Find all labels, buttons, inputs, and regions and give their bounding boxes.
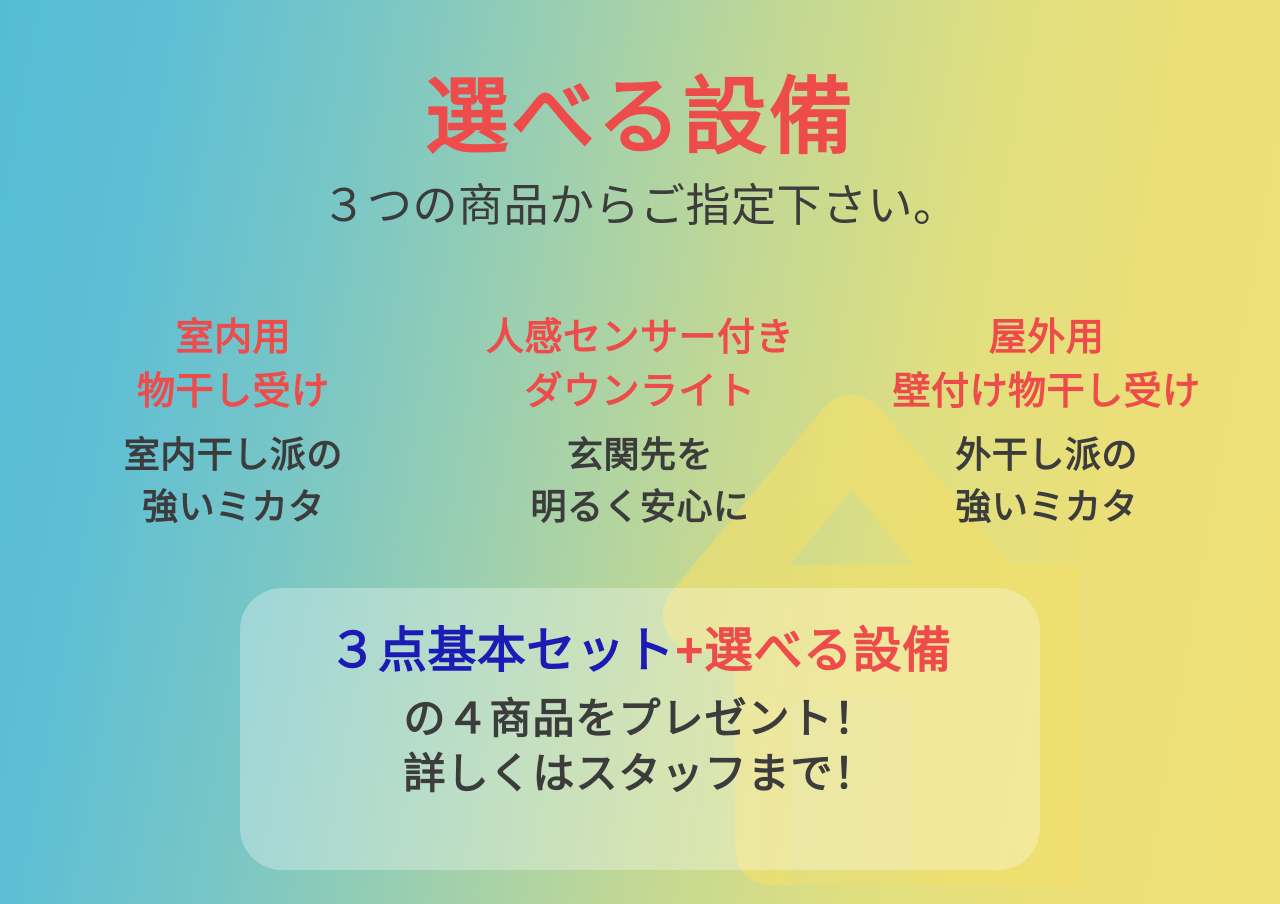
promo-detail-line-2: 詳しくはスタッフまで！ <box>240 746 1040 801</box>
option-heading-line-1: 室内用 <box>34 312 433 366</box>
option-body-line-2: 明るく安心に <box>441 481 840 533</box>
option-body-line-1: 外干し派の <box>847 429 1246 481</box>
promo-headline: ３点基本セット+選べる設備 <box>240 624 1040 679</box>
option-body-line-1: 室内干し派の <box>34 429 433 481</box>
headline-block: 選べる設備 ３つの商品からご指定下さい。 <box>0 74 1280 231</box>
option-heading-line-2: ダウンライト <box>441 366 840 420</box>
promo-set-label: ３点基本セット <box>328 624 675 678</box>
option-body-line-2: 強いミカタ <box>847 481 1246 533</box>
option-body-line-2: 強いミカタ <box>34 481 433 533</box>
option-heading-line-2: 物干し受け <box>34 366 433 420</box>
option-card-outdoor-wall-dryer[interactable]: 屋外用 壁付け物干し受け 外干し派の 強いミカタ <box>843 312 1250 533</box>
promo-panel: ３点基本セット+選べる設備 の４商品をプレゼント！ 詳しくはスタッフまで！ <box>240 588 1040 870</box>
option-body: 室内干し派の 強いミカタ <box>34 429 433 533</box>
option-body: 外干し派の 強いミカタ <box>847 429 1246 533</box>
option-card-motion-sensor-downlight[interactable]: 人感センサー付き ダウンライト 玄関先を 明るく安心に <box>437 312 844 533</box>
option-heading: 室内用 物干し受け <box>34 312 433 420</box>
option-body: 玄関先を 明るく安心に <box>441 429 840 533</box>
promo-plus-sign: + <box>675 624 704 678</box>
option-body-line-1: 玄関先を <box>441 429 840 481</box>
page-title: 選べる設備 <box>0 74 1280 161</box>
options-row: 室内用 物干し受け 室内干し派の 強いミカタ 人感センサー付き ダウンライト 玄… <box>30 312 1250 533</box>
promo-panel-content: ３点基本セット+選べる設備 の４商品をプレゼント！ 詳しくはスタッフまで！ <box>240 588 1040 802</box>
page-subtitle: ３つの商品からご指定下さい。 <box>0 181 1280 231</box>
option-heading-line-2: 壁付け物干し受け <box>847 366 1246 420</box>
option-heading-line-1: 屋外用 <box>847 312 1246 366</box>
promo-detail-line-1: の４商品をプレゼント！ <box>240 691 1040 746</box>
option-heading: 人感センサー付き ダウンライト <box>441 312 840 420</box>
promo-poster: 選べる設備 ３つの商品からご指定下さい。 室内用 物干し受け 室内干し派の 強い… <box>0 0 1280 904</box>
option-heading: 屋外用 壁付け物干し受け <box>847 312 1246 420</box>
option-heading-line-1: 人感センサー付き <box>441 312 840 366</box>
option-card-indoor-dryer[interactable]: 室内用 物干し受け 室内干し派の 強いミカタ <box>30 312 437 533</box>
promo-choice-label: 選べる設備 <box>704 624 952 678</box>
